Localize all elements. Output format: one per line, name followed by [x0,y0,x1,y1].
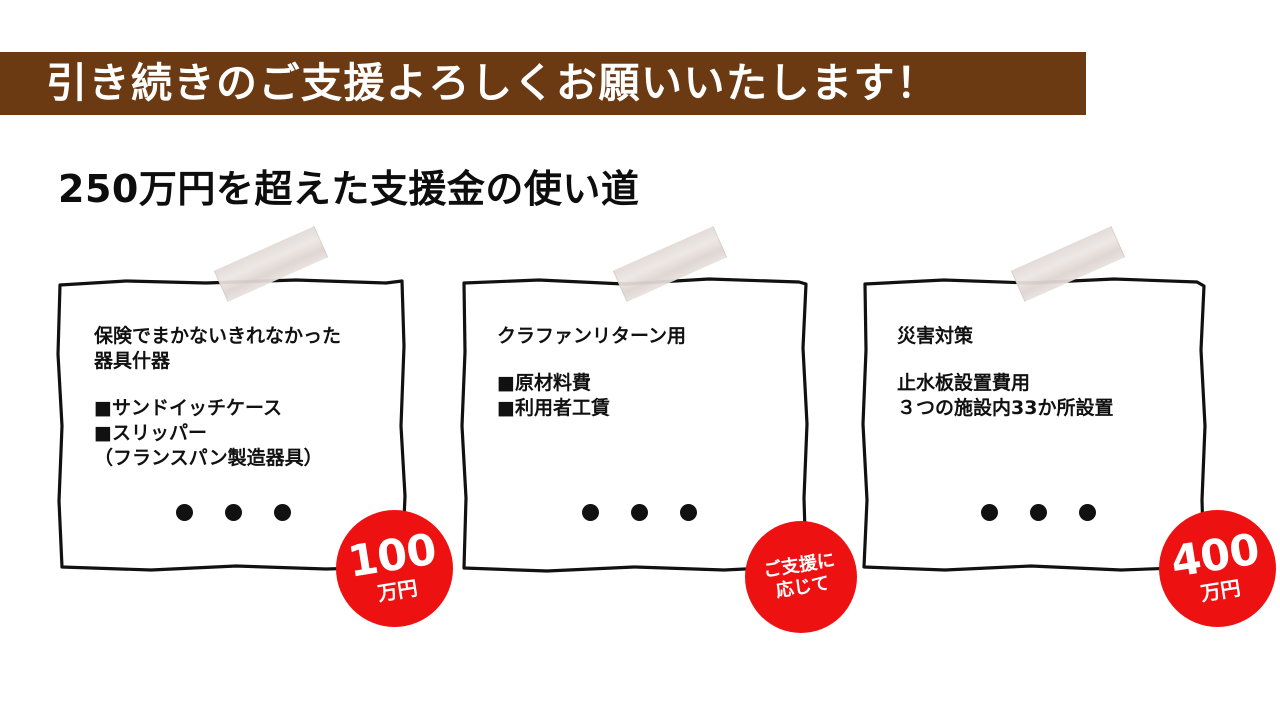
card-1-amount-value: 100 [346,529,440,583]
card-1-amount-unit: 万円 [376,576,419,604]
list-item: ■利用者工賃 [497,396,795,421]
slide-canvas: 引き続きのご支援よろしくお願いいたします！ 250万円を超えた支援金の使い道 保… [0,0,1280,720]
card-2-body: クラファンリターン用 ■原材料費 ■利用者工賃 [497,324,795,421]
list-item: ■サンドイッチケース [94,396,392,421]
dot-icon [981,504,998,521]
card-2-heading: クラファンリターン用 [497,324,795,349]
card-3-list: 止水板設置費用 ３つの施設内33か所設置 [897,371,1193,421]
dot-icon [631,504,648,521]
card-1-list: ■サンドイッチケース ■スリッパー （フランスパン製造器具） [94,396,392,471]
card-1-body: 保険でまかないきれなかった 器具什器 ■サンドイッチケース ■スリッパー （フラ… [94,324,392,471]
list-item: ３つの施設内33か所設置 [897,396,1193,421]
card-3-amount-unit: 万円 [1199,576,1242,604]
dot-icon [680,504,697,521]
card-3-border [859,276,1207,572]
dot-icon [225,504,242,521]
dot-icon [1079,504,1096,521]
header-banner-text: 引き続きのご支援よろしくお願いいたします！ [46,63,939,104]
card-2: クラファンリターン用 ■原材料費 ■利用者工賃 [459,276,809,572]
dot-icon [582,504,599,521]
card-2-ellipsis-dots [582,504,697,521]
header-banner: 引き続きのご支援よろしくお願いいたします！ [0,52,1086,115]
list-item: ■原材料費 [497,371,795,396]
card-3-body: 災害対策 止水板設置費用 ３つの施設内33か所設置 [897,324,1193,421]
card-1-amount-badge: 100 万円 [336,510,453,627]
list-item: 止水板設置費用 [897,371,1193,396]
card-3-ellipsis-dots [981,504,1096,521]
card-2-list: ■原材料費 ■利用者工賃 [497,371,795,421]
dot-icon [274,504,291,521]
list-item: （フランスパン製造器具） [94,446,392,471]
card-2-note-badge: ご支援に 応じて [745,521,857,633]
card-1-ellipsis-dots [176,504,291,521]
card-3: 災害対策 止水板設置費用 ３つの施設内33か所設置 [859,276,1207,572]
card-3-heading: 災害対策 [897,324,1193,349]
card-3-amount-badge: 400 万円 [1159,510,1276,627]
list-item: ■スリッパー [94,421,392,446]
page-title: 250万円を超えた支援金の使い道 [58,158,639,213]
card-3-amount-value: 400 [1169,529,1263,583]
card-2-border [459,276,809,572]
card-2-note-text: ご支援に 応じて [762,550,840,605]
dot-icon [1030,504,1047,521]
card-1-heading: 保険でまかないきれなかった 器具什器 [94,324,392,374]
dot-icon [176,504,193,521]
